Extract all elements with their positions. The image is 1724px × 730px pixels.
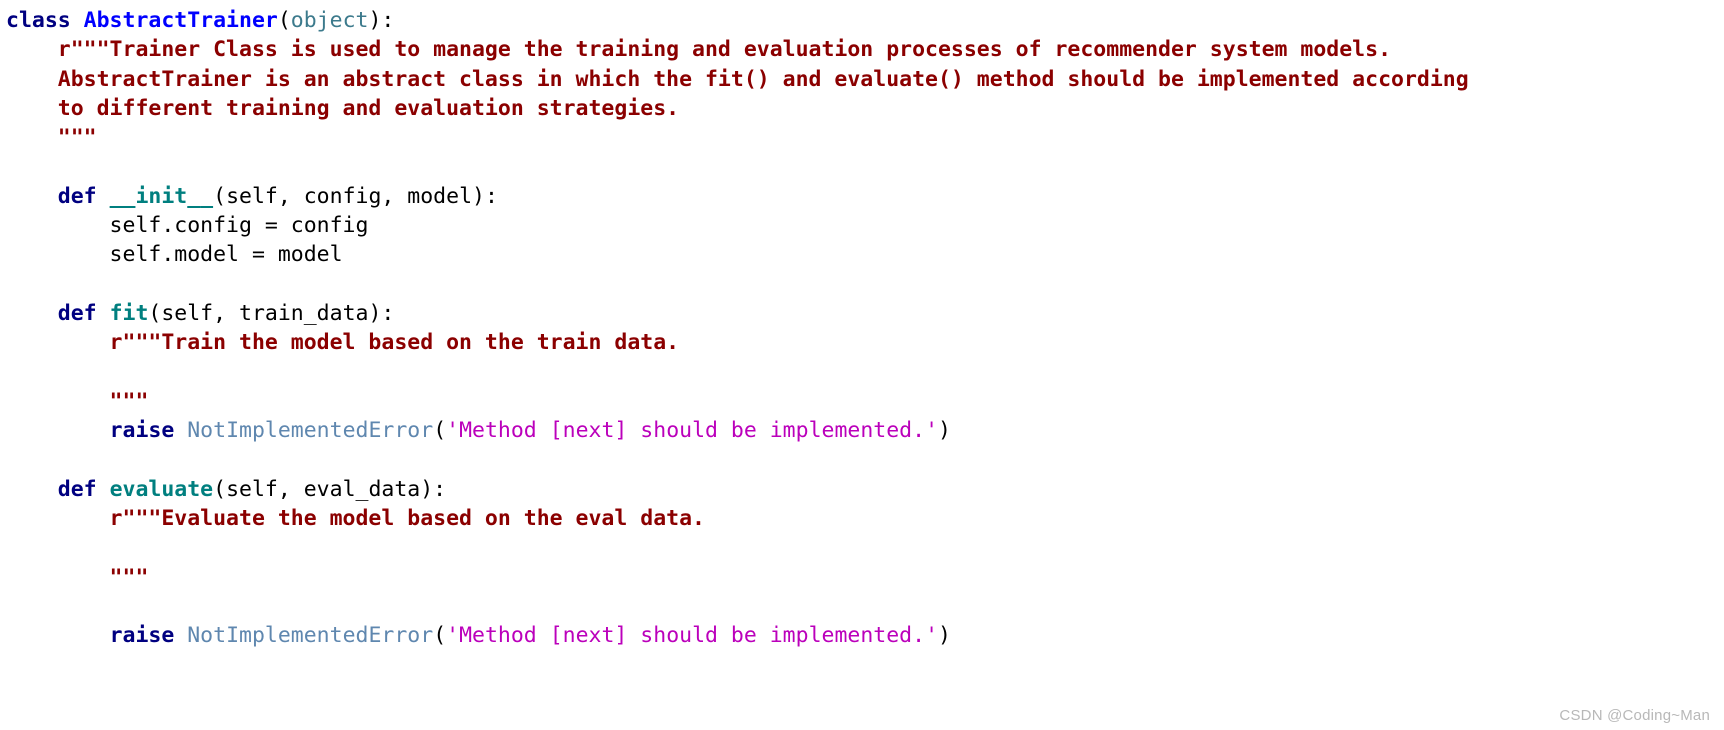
code-line: """ [6, 387, 1724, 416]
code-token: self.config = config [6, 213, 368, 238]
code-token [6, 418, 110, 443]
code-token: class [6, 8, 84, 33]
code-line: r"""Trainer Class is used to manage the … [6, 35, 1724, 64]
code-viewer: class AbstractTrainer(object): r"""Train… [0, 0, 1724, 730]
code-token: def [58, 184, 110, 209]
code-token [6, 184, 58, 209]
code-token: r"""Train the model based on the train d… [6, 330, 679, 355]
code-line: self.config = config [6, 211, 1724, 240]
code-line [6, 533, 1724, 562]
code-line [6, 592, 1724, 621]
code-token: to different training and evaluation str… [6, 96, 679, 121]
code-token: __init__ [110, 184, 214, 209]
code-line: raise NotImplementedError('Method [next]… [6, 416, 1724, 445]
code-token: NotImplementedError [187, 418, 433, 443]
code-token: object [291, 8, 369, 33]
code-line: """ [6, 563, 1724, 592]
code-line [6, 358, 1724, 387]
code-token [6, 623, 110, 648]
code-token: r"""Evaluate the model based on the eval… [6, 506, 705, 531]
code-line [6, 152, 1724, 181]
code-token: (self, eval_data): [213, 477, 446, 502]
code-line [6, 445, 1724, 474]
code-token: """ [6, 125, 97, 150]
code-token: AbstractTrainer [84, 8, 278, 33]
code-line: AbstractTrainer is an abstract class in … [6, 65, 1724, 94]
code-token: (self, train_data): [148, 301, 394, 326]
code-line: """ [6, 123, 1724, 152]
code-token: fit [110, 301, 149, 326]
code-token [6, 477, 58, 502]
code-token: """ [6, 565, 148, 590]
code-token: r"""Trainer Class is used to manage the … [6, 37, 1391, 62]
code-token: ( [278, 8, 291, 33]
code-token: ) [938, 418, 951, 443]
code-token: 'Method [next] should be implemented.' [446, 418, 938, 443]
code-token: ( [433, 418, 446, 443]
code-token: AbstractTrainer is an abstract class in … [6, 67, 1469, 92]
code-token: ) [938, 623, 951, 648]
code-token: (self, config, model): [213, 184, 498, 209]
code-token: raise [110, 418, 188, 443]
code-token: def [58, 477, 110, 502]
code-token: ( [433, 623, 446, 648]
code-token: self.model = model [6, 242, 343, 267]
code-line: def __init__(self, config, model): [6, 182, 1724, 211]
code-token: evaluate [110, 477, 214, 502]
code-token: def [58, 301, 110, 326]
code-line: class AbstractTrainer(object): [6, 6, 1724, 35]
code-line: def evaluate(self, eval_data): [6, 475, 1724, 504]
code-line [6, 270, 1724, 299]
code-line: r"""Evaluate the model based on the eval… [6, 504, 1724, 533]
code-token: NotImplementedError [187, 623, 433, 648]
code-token: 'Method [next] should be implemented.' [446, 623, 938, 648]
code-token [6, 301, 58, 326]
code-token: """ [6, 389, 148, 414]
code-token: ): [368, 8, 394, 33]
code-line: def fit(self, train_data): [6, 299, 1724, 328]
code-line: r"""Train the model based on the train d… [6, 328, 1724, 357]
code-line: to different training and evaluation str… [6, 94, 1724, 123]
code-token: raise [110, 623, 188, 648]
code-line: raise NotImplementedError('Method [next]… [6, 621, 1724, 650]
source-code-block[interactable]: class AbstractTrainer(object): r"""Train… [0, 0, 1724, 651]
csdn-watermark: CSDN @Coding~Man [1559, 707, 1710, 724]
code-line: self.model = model [6, 240, 1724, 269]
